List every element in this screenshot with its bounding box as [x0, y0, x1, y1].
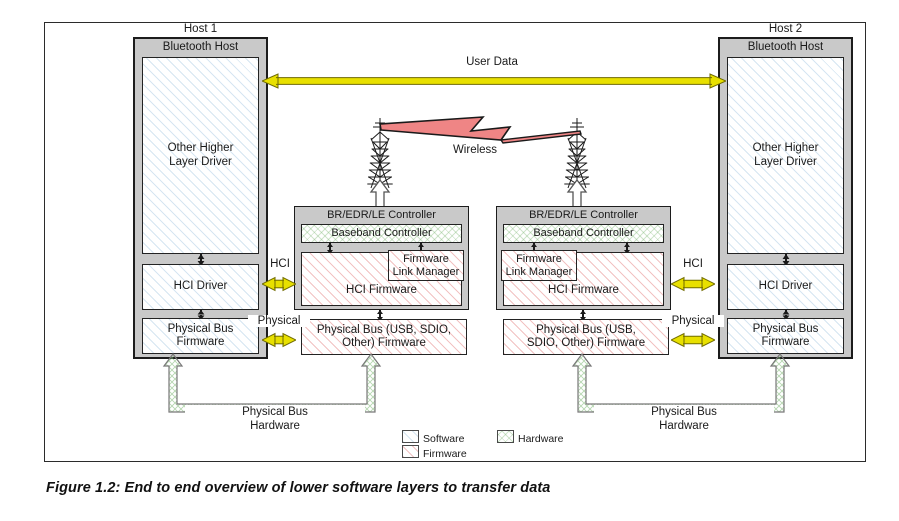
host1-title: Host 1: [133, 23, 268, 37]
legend-swatch-firmware-icon: [402, 445, 419, 458]
figure-canvas: Host 1 Bluetooth Host Other Higher Layer…: [0, 0, 899, 521]
hci-label-left: HCI: [262, 258, 298, 270]
physical-bus-hardware-label-left: Physical Bus Hardware: [185, 405, 365, 434]
physical-label-right: Physical: [662, 315, 724, 327]
user-data-arrow: [262, 72, 726, 90]
wireless-label: Wireless: [420, 144, 530, 156]
controller1-firmware-link-manager[interactable]: Firmware Link Manager: [388, 250, 464, 281]
legend-item-firmware: Firmware: [402, 445, 467, 460]
controller1-baseband-controller[interactable]: Baseband Controller: [301, 224, 462, 243]
physical-label-left: Physical: [248, 315, 310, 327]
host1-header: Bluetooth Host: [133, 39, 268, 55]
host1-other-higher-layer-driver[interactable]: Other Higher Layer Driver: [142, 57, 259, 254]
controller2-baseband-controller[interactable]: Baseband Controller: [503, 224, 664, 243]
controller1-physical-bus-firmware[interactable]: Physical Bus (USB, SDIO, Other) Firmware: [301, 319, 467, 355]
controller2-physical-bus-firmware[interactable]: Physical Bus (USB, SDIO, Other) Firmware: [503, 319, 669, 355]
lightning-bolt-icon: [375, 112, 585, 148]
controller2-firmware-link-manager[interactable]: Firmware Link Manager: [501, 250, 577, 281]
host2-title: Host 2: [718, 23, 853, 37]
host2-hci-driver[interactable]: HCI Driver: [727, 264, 844, 310]
host2-other-higher-layer-driver[interactable]: Other Higher Layer Driver: [727, 57, 844, 254]
host1-physical-bus-firmware[interactable]: Physical Bus Firmware: [142, 318, 259, 354]
legend-swatch-hardware-icon: [497, 430, 514, 443]
legend-swatch-software-icon: [402, 430, 419, 443]
host1-hci-driver[interactable]: HCI Driver: [142, 264, 259, 310]
controller1-header: BR/EDR/LE Controller: [294, 207, 469, 222]
legend-item-hardware: Hardware: [497, 430, 564, 445]
hci-arrow-left: [262, 275, 296, 293]
legend-label-firmware: Firmware: [423, 448, 467, 460]
legend-label-software: Software: [423, 433, 464, 445]
physical-arrow-left: [262, 331, 296, 349]
physical-arrow-right: [671, 331, 715, 349]
user-data-label: User Data: [412, 56, 572, 68]
legend-label-hardware: Hardware: [518, 433, 564, 445]
figure-caption: Figure 1.2: End to end overview of lower…: [46, 480, 746, 496]
legend-item-software: Software: [402, 430, 464, 445]
controller2-header: BR/EDR/LE Controller: [496, 207, 671, 222]
hci-arrow-right: [671, 275, 715, 293]
physical-bus-hardware-label-right: Physical Bus Hardware: [594, 405, 774, 434]
host2-header: Bluetooth Host: [718, 39, 853, 55]
host2-physical-bus-firmware[interactable]: Physical Bus Firmware: [727, 318, 844, 354]
hci-label-right: HCI: [673, 258, 713, 270]
